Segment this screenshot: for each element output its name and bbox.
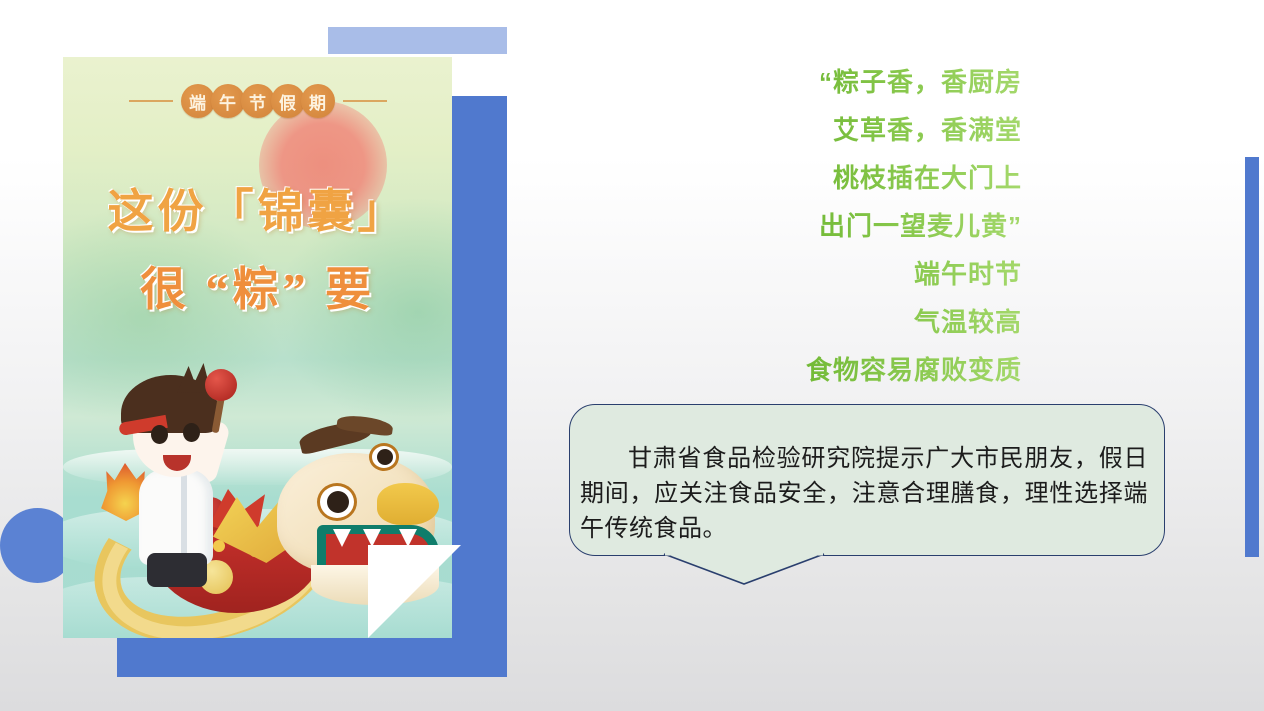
badge-rule-right: [343, 100, 387, 102]
boy-shirt-placket: [181, 475, 187, 559]
candied-fruit-icon: [205, 369, 237, 401]
badge-chip: 午: [211, 84, 245, 118]
boy-eye: [183, 423, 200, 442]
callout-tail: [664, 553, 824, 587]
poster-headline-line2: 很 “粽” 要: [63, 253, 452, 319]
poem-line: 桃枝插在大门上: [700, 154, 1022, 202]
poem-line: 食物容易腐败变质: [700, 346, 1022, 394]
slide-canvas: 端 午 节 假 期 这份「锦囊」 很 “粽” 要: [0, 0, 1264, 711]
notice-callout-text: 甘肃省食品检验研究院提示广大市民朋友，假日期间，应关注食品安全，注意合理膳食，理…: [570, 405, 1166, 557]
hull-stud: [213, 540, 225, 552]
dragon-fang: [363, 529, 381, 547]
badge-chip: 端: [181, 84, 215, 118]
badge-rule-left: [129, 100, 173, 102]
dragon-pupil: [327, 491, 349, 513]
decorative-light-blue-bar: [328, 27, 507, 54]
poem-line: “粽子香，香厨房: [700, 58, 1022, 106]
poem-text-block: “粽子香，香厨房 艾草香，香满堂 桃枝插在大门上 出门一望麦儿黄” 端午时节 气…: [700, 58, 1022, 394]
decorative-blue-bar-right-edge: [1245, 157, 1259, 557]
poem-line: 出门一望麦儿黄”: [700, 202, 1022, 250]
dragon-pupil: [377, 449, 393, 465]
poster-badge-chips: 端 午 节 假 期: [181, 84, 335, 118]
poem-line: 艾草香，香满堂: [700, 106, 1022, 154]
decorative-blue-panel-right-of-poster: [451, 96, 507, 638]
poster-headline-line1: 这份「锦囊」: [63, 175, 452, 241]
boy-body: [139, 469, 213, 565]
decorative-blue-bar-bottom: [117, 638, 507, 677]
badge-chip: 期: [301, 84, 335, 118]
badge-chip: 假: [271, 84, 305, 118]
poster-badge-row: 端 午 节 假 期: [63, 84, 452, 118]
poem-line: 端午时节: [700, 250, 1022, 298]
dragon-fang: [399, 529, 417, 547]
dragon-fang: [333, 529, 351, 547]
dragon-snout: [377, 483, 439, 525]
poem-line: 气温较高: [700, 298, 1022, 346]
notice-callout-box: 甘肃省食品检验研究院提示广大市民朋友，假日期间，应关注食品安全，注意合理膳食，理…: [569, 404, 1165, 556]
boy-pants: [147, 553, 207, 587]
badge-chip: 节: [241, 84, 275, 118]
boy-eye: [151, 425, 168, 444]
